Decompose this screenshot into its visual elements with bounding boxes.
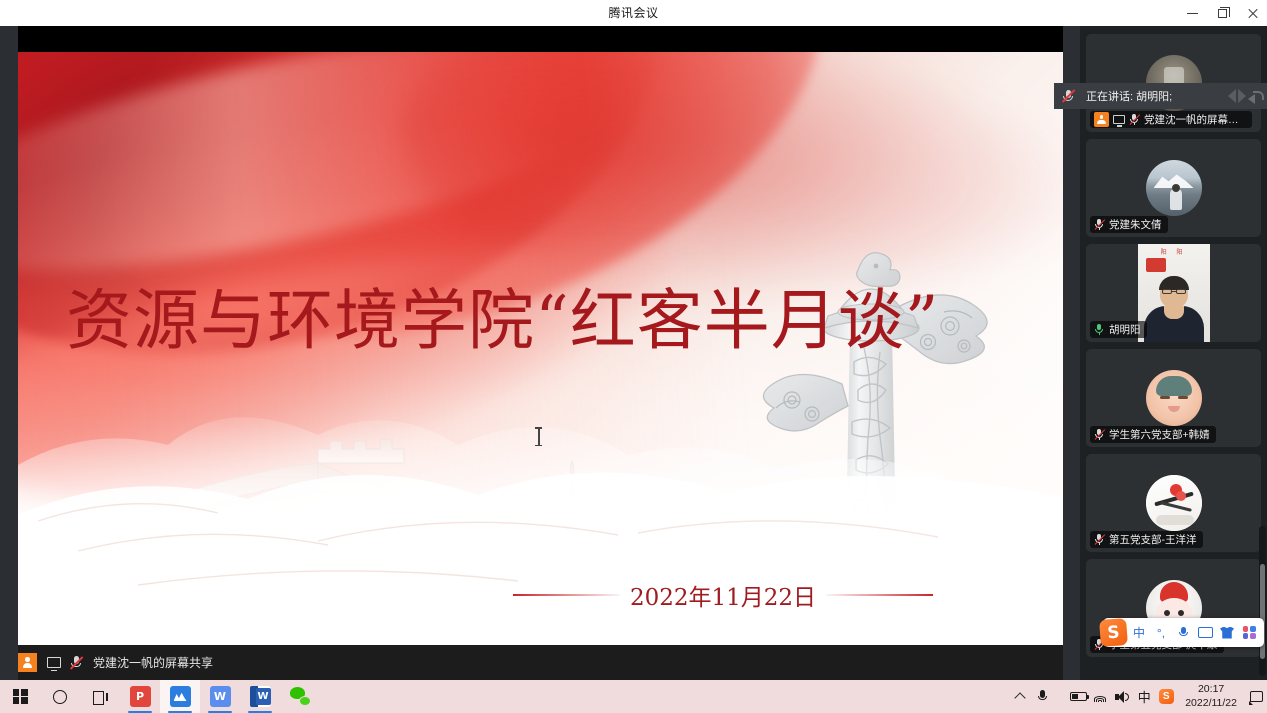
slide-title: 资源与环境学院“红客半月谈”: [66, 284, 1056, 358]
person-icon: [1097, 115, 1106, 124]
wechat-icon: [290, 686, 311, 707]
window-controls: [1177, 0, 1267, 26]
mic-muted-icon: [1094, 534, 1105, 546]
action-center-icon: [1250, 691, 1263, 702]
restore-icon: [1218, 9, 1227, 18]
taskbar-left: P W W: [0, 680, 320, 713]
speaking-mic-status: [1054, 83, 1080, 109]
slide-date-row: 2022年11月22日: [513, 570, 933, 620]
video-feed: 阳 阳: [1138, 244, 1210, 342]
ime-icon: 中: [1138, 687, 1151, 706]
cortana-circle-icon: [53, 690, 67, 704]
ime-soft-keyboard[interactable]: [1195, 623, 1215, 643]
participant-tile[interactable]: 第五党支部-王洋洋: [1086, 454, 1261, 552]
participant-name: 党建沈一帆的屏幕共享: [1144, 112, 1246, 127]
minimize-button[interactable]: [1177, 0, 1207, 26]
banner-controls[interactable]: [1228, 89, 1263, 103]
microphone-icon: [1038, 690, 1047, 703]
participant-namebar: 学生第六党支部+韩婧: [1090, 426, 1216, 443]
clock-time: 20:17: [1198, 683, 1224, 697]
action-center-button[interactable]: [1245, 680, 1267, 713]
mic-muted-icon: [1129, 114, 1140, 126]
mic-muted-icon: [1094, 429, 1105, 441]
slide-date: 2022年11月22日: [620, 578, 826, 612]
close-button[interactable]: [1237, 0, 1267, 26]
tray-network[interactable]: [1089, 680, 1111, 713]
restore-button[interactable]: [1207, 0, 1237, 26]
taskbar-app-wechat[interactable]: [280, 680, 320, 713]
screen-share-notice-bar: 党建沈一帆的屏幕共享: [18, 645, 1063, 680]
red-ribbon-decor: [18, 52, 668, 319]
sogou-logo-icon[interactable]: S: [1099, 618, 1128, 647]
avatar: [1146, 160, 1202, 216]
taskbar-app-word[interactable]: W: [240, 680, 280, 713]
host-badge: [1094, 112, 1109, 127]
participant-name: 第五党支部-王洋洋: [1109, 532, 1197, 547]
participant-rail-scrollbar[interactable]: [1259, 526, 1266, 676]
active-speaker-text: 正在讲话: 胡明阳;: [1086, 88, 1222, 104]
participant-namebar: 党建沈一帆的屏幕共享: [1090, 111, 1252, 128]
host-badge: [18, 653, 37, 672]
window-title-bar[interactable]: 腾讯会议: [0, 0, 1267, 26]
participant-tile[interactable]: 党建朱文倩: [1086, 139, 1261, 237]
task-view-button[interactable]: [80, 680, 120, 713]
clock-date: 2022/11/22: [1185, 697, 1237, 711]
tray-ime[interactable]: 中: [1133, 680, 1155, 713]
shirt-icon: [1220, 627, 1234, 639]
tencent-meeting-icon: [170, 686, 191, 707]
participant-namebar: 党建朱文倩: [1090, 216, 1168, 233]
avatar: [1146, 475, 1202, 531]
wifi-icon: [1093, 691, 1107, 702]
ime-lang-mode[interactable]: 中: [1129, 623, 1149, 643]
date-rule-left: [513, 594, 620, 596]
ime-punctuation-mode[interactable]: °,: [1151, 623, 1171, 643]
taskbar-app-wps-presentation[interactable]: P: [120, 680, 160, 713]
participant-namebar: 第五党支部-王洋洋: [1090, 531, 1203, 548]
microsoft-word-icon: W: [250, 686, 271, 707]
taskbar-clock[interactable]: 20:17 2022/11/22: [1177, 680, 1245, 713]
apps-icon: [1243, 626, 1256, 639]
tray-overflow-button[interactable]: [1009, 680, 1031, 713]
share-notice-text: 党建沈一帆的屏幕共享: [93, 654, 213, 671]
tray-volume[interactable]: [1111, 680, 1133, 713]
sogou-ime-toolbar[interactable]: S 中 °,: [1103, 618, 1264, 647]
search-button[interactable]: [40, 680, 80, 713]
shared-screen-stage[interactable]: 资源与环境学院“红客半月谈” 2022年11月22日 党建沈一帆的屏幕共享: [18, 26, 1063, 680]
wps-presentation-icon: P: [130, 686, 151, 707]
mic-muted-icon: [69, 655, 83, 670]
avatar: [1146, 370, 1202, 426]
tray-microphone[interactable]: [1031, 680, 1053, 713]
task-view-icon: [93, 691, 108, 703]
active-speaker-banner[interactable]: 正在讲话: 胡明阳;: [1080, 83, 1267, 109]
keyboard-icon: [1198, 627, 1213, 638]
windows-logo-icon: [13, 689, 28, 704]
chevron-right-icon[interactable]: [1238, 89, 1246, 103]
chevron-up-icon: [1015, 692, 1026, 703]
participant-name: 党建朱文倩: [1109, 217, 1162, 232]
taskbar-app-wps-writer[interactable]: W: [200, 680, 240, 713]
system-tray: 中 S 20:17 2022/11/22: [1009, 680, 1267, 713]
participant-video-rail[interactable]: 党建沈一帆的屏幕共享 党建朱文倩 阳 阳: [1080, 26, 1267, 680]
sogou-icon: S: [1159, 689, 1174, 704]
windows-taskbar[interactable]: P W W: [0, 680, 1267, 713]
back-arrow-icon[interactable]: [1248, 90, 1263, 103]
screen-share-icon: [1113, 115, 1125, 125]
date-rule-right: [826, 594, 933, 596]
person-icon: [22, 657, 33, 668]
participant-namebar: 胡明阳: [1090, 321, 1147, 338]
ime-voice-input[interactable]: [1173, 623, 1193, 643]
chevron-left-icon[interactable]: [1228, 89, 1236, 103]
text-cursor: [535, 427, 538, 446]
mic-muted-icon: [1094, 219, 1105, 231]
ime-skin[interactable]: [1217, 623, 1237, 643]
minimize-icon: [1187, 13, 1198, 14]
start-button[interactable]: [0, 680, 40, 713]
battery-icon: [1070, 692, 1087, 701]
ime-toolbox[interactable]: [1239, 623, 1259, 643]
speaker-icon: [1115, 691, 1129, 703]
participant-name: 学生第六党支部+韩婧: [1109, 427, 1210, 442]
tray-battery[interactable]: [1067, 680, 1089, 713]
wps-writer-icon: W: [210, 686, 231, 707]
mic-on-icon: [1094, 324, 1105, 336]
window-title: 腾讯会议: [0, 0, 1267, 26]
meeting-window-body: 资源与环境学院“红客半月谈” 2022年11月22日 党建沈一帆的屏幕共享: [0, 26, 1267, 680]
taskbar-app-tencent-meeting[interactable]: [160, 680, 200, 713]
screen-share-icon: [47, 657, 61, 668]
close-icon: [1247, 8, 1258, 19]
presentation-slide[interactable]: 资源与环境学院“红客半月谈” 2022年11月22日: [18, 52, 1063, 645]
participant-name: 胡明阳: [1109, 322, 1141, 337]
mic-muted-icon: [1061, 89, 1075, 104]
participant-tile-speaking[interactable]: 阳 阳 胡明阳: [1086, 244, 1261, 342]
tray-sogou[interactable]: S: [1155, 680, 1177, 713]
participant-tile[interactable]: 学生第六党支部+韩婧: [1086, 349, 1261, 447]
